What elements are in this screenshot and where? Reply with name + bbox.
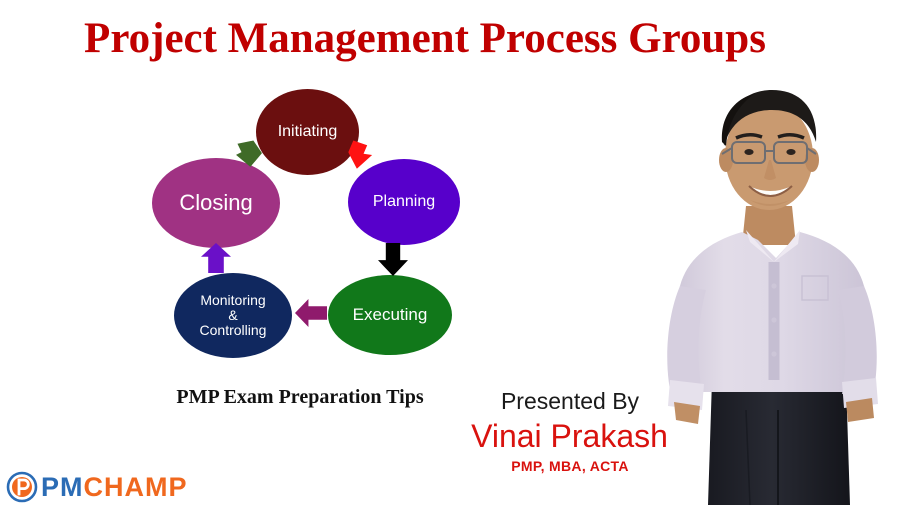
page-title: Project Management Process Groups (0, 14, 850, 63)
process-node-monitoring-controlling[interactable]: Monitoring & Controlling (174, 273, 292, 358)
logo-text-champ: CHAMP (84, 472, 188, 502)
logo-text-pm: PM (41, 472, 84, 502)
process-node-planning-label: Planning (373, 193, 435, 210)
presented-by-label: Presented By (470, 388, 670, 415)
exam-tips-caption: PMP Exam Preparation Tips (140, 386, 460, 409)
process-node-closing-label: Closing (179, 191, 252, 215)
process-node-closing[interactable]: Closing (152, 158, 280, 248)
arrow-planning-to-executing-icon (378, 243, 408, 276)
presenter-name: Vinai Prakash (462, 418, 677, 455)
process-node-monitoring-label-line1: Monitoring (200, 293, 267, 308)
process-node-executing[interactable]: Executing (328, 275, 452, 355)
process-node-planning[interactable]: Planning (348, 159, 460, 245)
process-node-monitoring-label-line2: & (200, 308, 267, 323)
pmchamp-logo-mark-icon (6, 471, 38, 503)
process-node-monitoring-label-line3: Controlling (200, 323, 267, 338)
process-groups-cycle-diagram: Initiating Planning Executing Monitoring… (140, 85, 480, 370)
arrow-executing-to-monitoring-icon (295, 299, 327, 327)
process-node-initiating[interactable]: Initiating (256, 89, 359, 175)
process-node-initiating-label: Initiating (278, 123, 338, 140)
pmchamp-logo-text: PMCHAMP (41, 474, 188, 501)
presenter-credentials: PMP, MBA, ACTA (470, 458, 670, 474)
presentation-slide: Project Management Process Groups Initia… (0, 0, 903, 505)
presenter-photo (650, 80, 903, 505)
process-node-executing-label: Executing (353, 306, 428, 324)
pmchamp-logo[interactable]: PMCHAMP (6, 470, 188, 504)
